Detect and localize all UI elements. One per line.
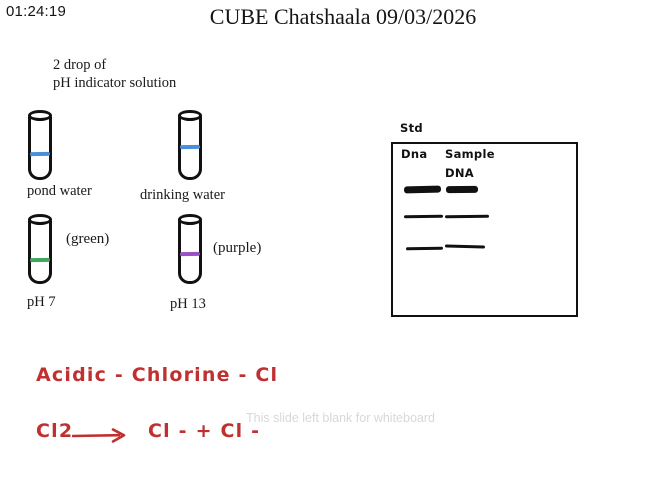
gel-band [446, 186, 478, 193]
tube-liquid-level [30, 258, 50, 262]
slide-watermark: This slide left blank for whiteboard [246, 411, 435, 425]
reaction-products: Cl - + Cl - [148, 420, 260, 442]
page-title: CUBE Chatshaala 09/03/2026 [0, 4, 666, 30]
reaction-reactant: Cl2 [36, 420, 73, 442]
tube-rim [178, 214, 202, 225]
indicator-annotation: 2 drop of pH indicator solution [53, 56, 176, 92]
gel-band [404, 215, 443, 218]
gel-band [445, 244, 485, 248]
indicator-annotation-line1: 2 drop of [53, 56, 176, 74]
tube-label-ph13: pH 13 [170, 296, 206, 313]
test-tube-pond-water [28, 110, 52, 180]
test-tube-ph13 [178, 214, 202, 284]
gel-lane1-label-top: Std [400, 121, 423, 135]
test-tube-drinking-water [178, 110, 202, 180]
note-acidic-chlorine: Acidic - Chlorine - Cl [36, 364, 278, 386]
gel-band [445, 215, 489, 218]
color-note-green: (green) [66, 231, 109, 248]
gel-lane2-label-line1: Sample [445, 147, 495, 161]
tube-body [28, 218, 52, 284]
color-note-purple: (purple) [213, 240, 261, 257]
tube-liquid-level [180, 252, 200, 256]
reaction-arrow-icon [72, 427, 134, 443]
indicator-annotation-line2: pH indicator solution [53, 74, 176, 92]
slide-canvas: 01:24:19 CUBE Chatshaala 09/03/2026 2 dr… [0, 0, 666, 500]
gel-lane2-label-line2: DNA [445, 166, 474, 180]
gel-band [406, 247, 443, 250]
test-tube-ph7 [28, 214, 52, 284]
tube-label-drinking-water: drinking water [140, 187, 225, 204]
tube-liquid-level [30, 152, 50, 156]
tube-rim [178, 110, 202, 121]
tube-liquid-level [180, 145, 200, 149]
gel-electrophoresis-box: Dna Sample DNA [391, 142, 578, 317]
tube-body [28, 114, 52, 180]
tube-label-pond-water: pond water [27, 183, 92, 200]
tube-label-ph7: pH 7 [27, 294, 56, 311]
tube-rim [28, 110, 52, 121]
gel-lane1-label: Dna [401, 147, 427, 161]
gel-band [404, 186, 441, 194]
tube-rim [28, 214, 52, 225]
